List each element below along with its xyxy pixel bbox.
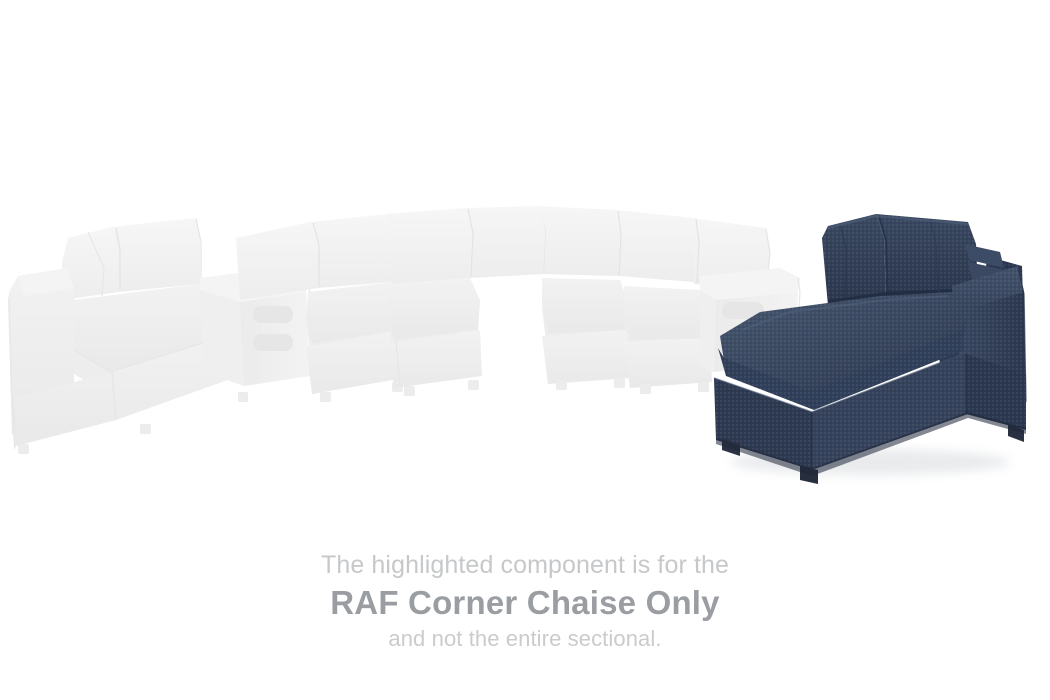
caption-line-disclaimer: and not the entire sectional. xyxy=(0,624,1050,654)
product-callout-page: The highlighted component is for the RAF… xyxy=(0,0,1050,700)
sectional-sofa-illustration xyxy=(0,0,1050,520)
caption-block: The highlighted component is for the RAF… xyxy=(0,548,1050,654)
sectional-sofa-figure xyxy=(0,0,1050,520)
caption-line-intro: The highlighted component is for the xyxy=(0,548,1050,582)
ghost-module-corner-wedge xyxy=(386,206,546,396)
caption-line-component-name: RAF Corner Chaise Only xyxy=(0,582,1050,624)
ghost-sectional-group xyxy=(8,206,800,454)
